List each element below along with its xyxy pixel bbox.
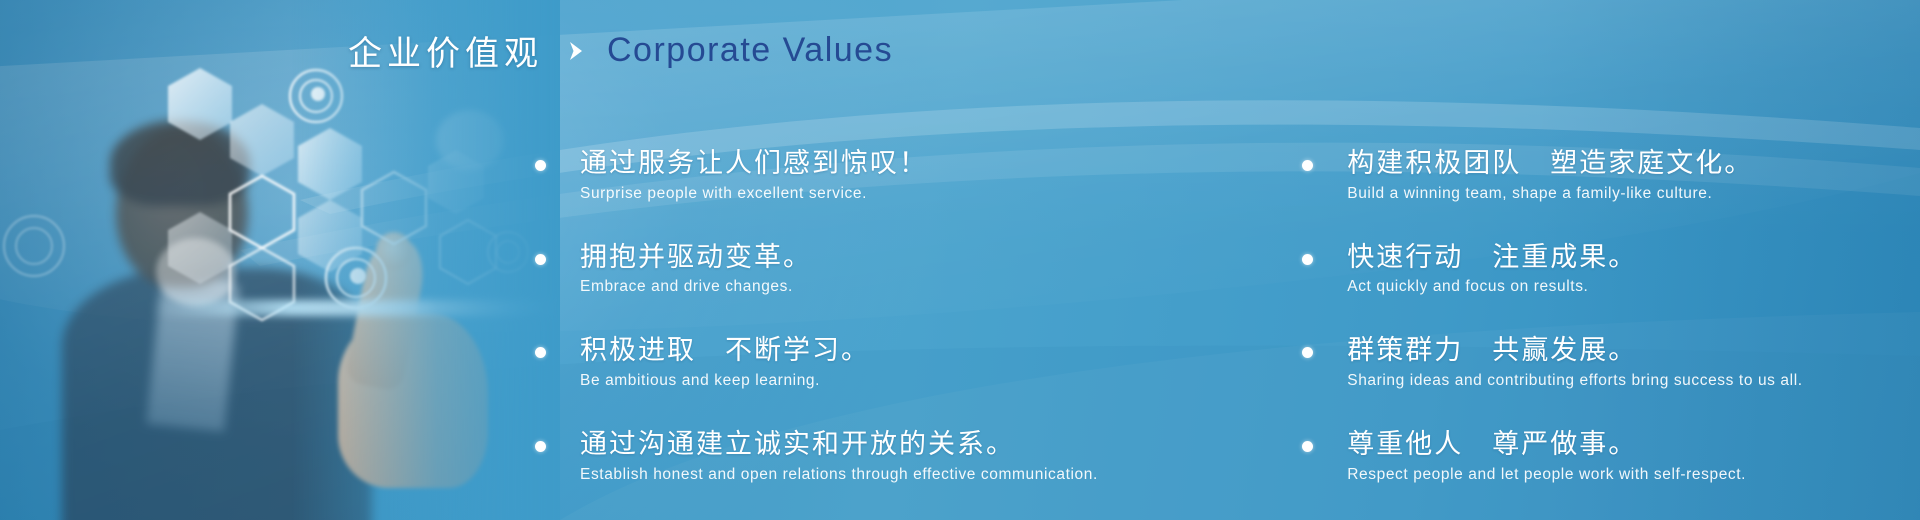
value-label-en: Build a winning team, shape a family-lik… xyxy=(1347,184,1753,204)
value-label-cn: 通过服务让人们感到惊叹！ xyxy=(580,146,928,181)
page-title-en: Corporate Values xyxy=(607,31,893,70)
value-label-cn: 通过沟通建立诚实和开放的关系。 xyxy=(580,427,1098,462)
value-label-en: Respect people and let people work with … xyxy=(1347,465,1746,485)
bullet-dot-icon xyxy=(535,347,546,358)
value-item: 尊重他人 尊严做事。 Respect people and let people… xyxy=(1302,427,1920,485)
value-label-en: Embrace and drive changes. xyxy=(580,277,812,297)
value-text: 尊重他人 尊严做事。 Respect people and let people… xyxy=(1347,427,1746,485)
value-item: 积极进取 不断学习。 Be ambitious and keep learnin… xyxy=(535,333,1292,391)
banner-header: 企业价值观 Corporate Values xyxy=(348,26,893,75)
values-column-right: 构建积极团队 塑造家庭文化。 Build a winning team, sha… xyxy=(1302,146,1920,520)
bullet-dot-icon xyxy=(1302,160,1313,171)
bullet-dot-icon xyxy=(1302,254,1313,265)
value-item: 群策群力 共赢发展。 Sharing ideas and contributin… xyxy=(1302,333,1920,391)
bullet-dot-icon xyxy=(1302,347,1313,358)
value-label-cn: 构建积极团队 塑造家庭文化。 xyxy=(1347,146,1753,181)
bullet-dot-icon xyxy=(1302,441,1313,452)
value-item: 构建积极团队 塑造家庭文化。 Build a winning team, sha… xyxy=(1302,146,1920,204)
value-label-en: Establish honest and open relations thro… xyxy=(580,465,1098,485)
bullet-dot-icon xyxy=(535,254,546,265)
value-item: 拥抱并驱动变革。 Embrace and drive changes. xyxy=(535,240,1292,298)
value-label-cn: 积极进取 不断学习。 xyxy=(580,333,870,368)
value-text: 通过沟通建立诚实和开放的关系。 Establish honest and ope… xyxy=(580,427,1098,485)
page-title-cn: 企业价值观 xyxy=(348,26,543,75)
value-text: 拥抱并驱动变革。 Embrace and drive changes. xyxy=(580,240,812,298)
value-text: 快速行动 注重成果。 Act quickly and focus on resu… xyxy=(1347,240,1637,298)
chevron-right-icon xyxy=(563,39,587,63)
bullet-dot-icon xyxy=(535,441,546,452)
value-label-cn: 拥抱并驱动变革。 xyxy=(580,240,812,275)
value-label-cn: 快速行动 注重成果。 xyxy=(1347,240,1637,275)
value-text: 群策群力 共赢发展。 Sharing ideas and contributin… xyxy=(1347,333,1802,391)
value-item: 快速行动 注重成果。 Act quickly and focus on resu… xyxy=(1302,240,1920,298)
value-text: 构建积极团队 塑造家庭文化。 Build a winning team, sha… xyxy=(1347,146,1753,204)
value-item: 通过服务让人们感到惊叹！ Surprise people with excell… xyxy=(535,146,1292,204)
value-text: 通过服务让人们感到惊叹！ Surprise people with excell… xyxy=(580,146,928,204)
value-label-en: Surprise people with excellent service. xyxy=(580,184,928,204)
value-label-cn: 尊重他人 尊严做事。 xyxy=(1347,427,1746,462)
value-label-cn: 群策群力 共赢发展。 xyxy=(1347,333,1802,368)
values-column-left: 通过服务让人们感到惊叹！ Surprise people with excell… xyxy=(535,146,1292,520)
values-columns: 通过服务让人们感到惊叹！ Surprise people with excell… xyxy=(0,146,1920,520)
value-item: 通过沟通建立诚实和开放的关系。 Establish honest and ope… xyxy=(535,427,1292,485)
value-label-en: Be ambitious and keep learning. xyxy=(580,371,870,391)
corporate-values-banner: 企业价值观 Corporate Values 通过服务让人们感到惊叹！ Surp… xyxy=(0,0,1920,520)
value-text: 积极进取 不断学习。 Be ambitious and keep learnin… xyxy=(580,333,870,391)
value-label-en: Act quickly and focus on results. xyxy=(1347,277,1637,297)
value-label-en: Sharing ideas and contributing efforts b… xyxy=(1347,371,1802,391)
bullet-dot-icon xyxy=(535,160,546,171)
